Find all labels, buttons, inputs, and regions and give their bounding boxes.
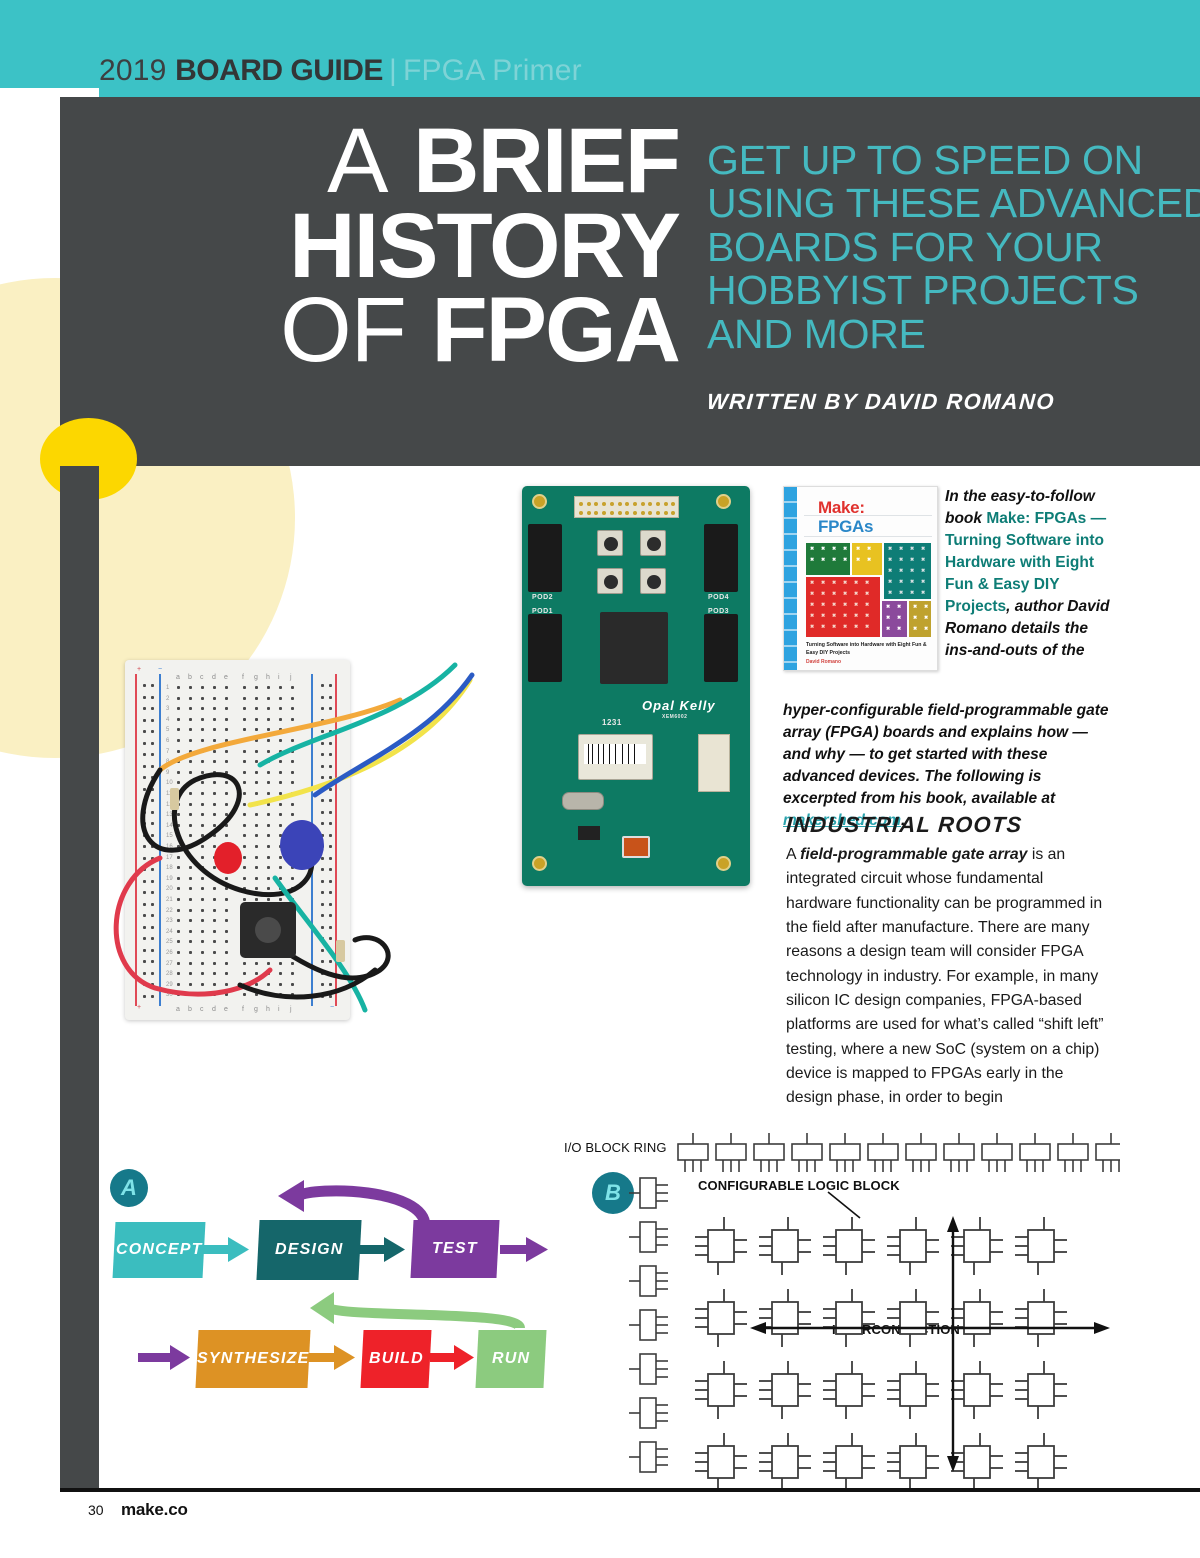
intro-part3: hyper-configurable field-programmable ga… xyxy=(783,702,1109,807)
book-brand: Make: xyxy=(818,498,865,518)
book-cover-art: ✖✖✖✖✖✖✖✖✖✖✖✖✖✖✖✖✖✖✖✖✖✖✖✖✖✖✖✖✖✖✖✖✖✖✖✖✖✖✖✖… xyxy=(806,543,931,638)
blue-led xyxy=(280,820,324,870)
byline: WRITTEN BY DAVID ROMANO xyxy=(706,389,1056,415)
pod2-label: POD2 xyxy=(532,594,553,601)
red-led xyxy=(214,842,242,874)
body-text: is an integrated circuit whose fundament… xyxy=(786,846,1104,1106)
flow-step-run[interactable]: RUN xyxy=(475,1330,546,1388)
diagram-b-graphics xyxy=(560,1130,1120,1490)
book-cover: Make: FPGAs ✖✖✖✖✖✖✖✖✖✖✖✖✖✖✖✖✖✖✖✖✖✖✖✖✖✖✖✖… xyxy=(783,486,938,671)
section-heading: INDUSTRIAL ROOTS xyxy=(785,812,1023,838)
kicker-section: FPGA Primer xyxy=(403,54,582,87)
board-model: XEM6002 xyxy=(662,714,687,720)
resistor-1 xyxy=(170,788,179,810)
body-lead-emphasis: field-programmable gate array xyxy=(800,846,1027,863)
pod1-label: POD1 xyxy=(532,608,553,615)
page-number: 30 xyxy=(88,1502,104,1518)
pod3-label: POD3 xyxy=(708,608,729,615)
footer-rule xyxy=(60,1488,1200,1492)
flow-step-synthesize[interactable]: SYNTHESIZE xyxy=(195,1330,310,1388)
kicker-guide: BOARD GUIDE xyxy=(175,54,383,87)
book-author: David Romano xyxy=(806,659,841,665)
flow-step-concept[interactable]: CONCEPT xyxy=(113,1222,206,1278)
site-name: make.co xyxy=(121,1500,188,1520)
pod4-label: POD4 xyxy=(708,594,729,601)
intro-wrap-text: In the easy-to-follow book Make: FPGAs —… xyxy=(945,486,1111,662)
left-rail-top xyxy=(60,97,99,466)
body-lead-plain: A xyxy=(786,846,800,863)
pcb-substrate: POD2 POD4 POD1 POD3 Opal Kelly XEM6002 1… xyxy=(522,486,750,886)
diagram-a: A xyxy=(100,1160,570,1420)
header-kicker: 2019 BOARD GUIDE|FPGA Primer xyxy=(99,56,582,86)
hero-deck: GET UP TO SPEED ON USING THESE ADVANCED … xyxy=(707,139,1200,356)
diagram-b: I/O BLOCK RING B CONFIGURABLE LOGIC BLOC… xyxy=(560,1130,1120,1490)
book-caption: Turning Software into Hardware with Eigh… xyxy=(806,642,934,658)
left-rail xyxy=(60,466,99,1488)
book-spine xyxy=(784,487,797,670)
page-title: A BRIEF HISTORY OF FPGA xyxy=(99,119,679,373)
book-title: FPGAs xyxy=(818,517,873,537)
breadboard-photo: aabbccddeeffgghhiijj12345678910111213141… xyxy=(100,640,495,1040)
board-brand: Opal Kelly xyxy=(642,698,716,713)
flow-step-build[interactable]: BUILD xyxy=(360,1330,431,1388)
kicker-year: 2019 xyxy=(99,54,167,87)
resistor-2 xyxy=(336,940,345,962)
kicker-separator: | xyxy=(389,54,397,87)
magazine-page: 2019 BOARD GUIDE|FPGA Primer A BRIEF HIS… xyxy=(0,0,1200,1558)
flow-step-design[interactable]: DESIGN xyxy=(256,1220,361,1280)
board-code: 1231 xyxy=(602,718,622,727)
title-fpga: FPGA xyxy=(431,279,679,381)
article-body: A field-programmable gate array is an in… xyxy=(786,843,1111,1110)
fpga-board-photo: POD2 POD4 POD1 POD3 Opal Kelly XEM6002 1… xyxy=(510,480,760,900)
title-of: OF xyxy=(280,279,406,381)
breadboard-wires xyxy=(100,640,495,1040)
hero-panel: A BRIEF HISTORY OF FPGA GET UP TO SPEED … xyxy=(99,97,1200,466)
flow-step-test[interactable]: TEST xyxy=(410,1220,499,1278)
